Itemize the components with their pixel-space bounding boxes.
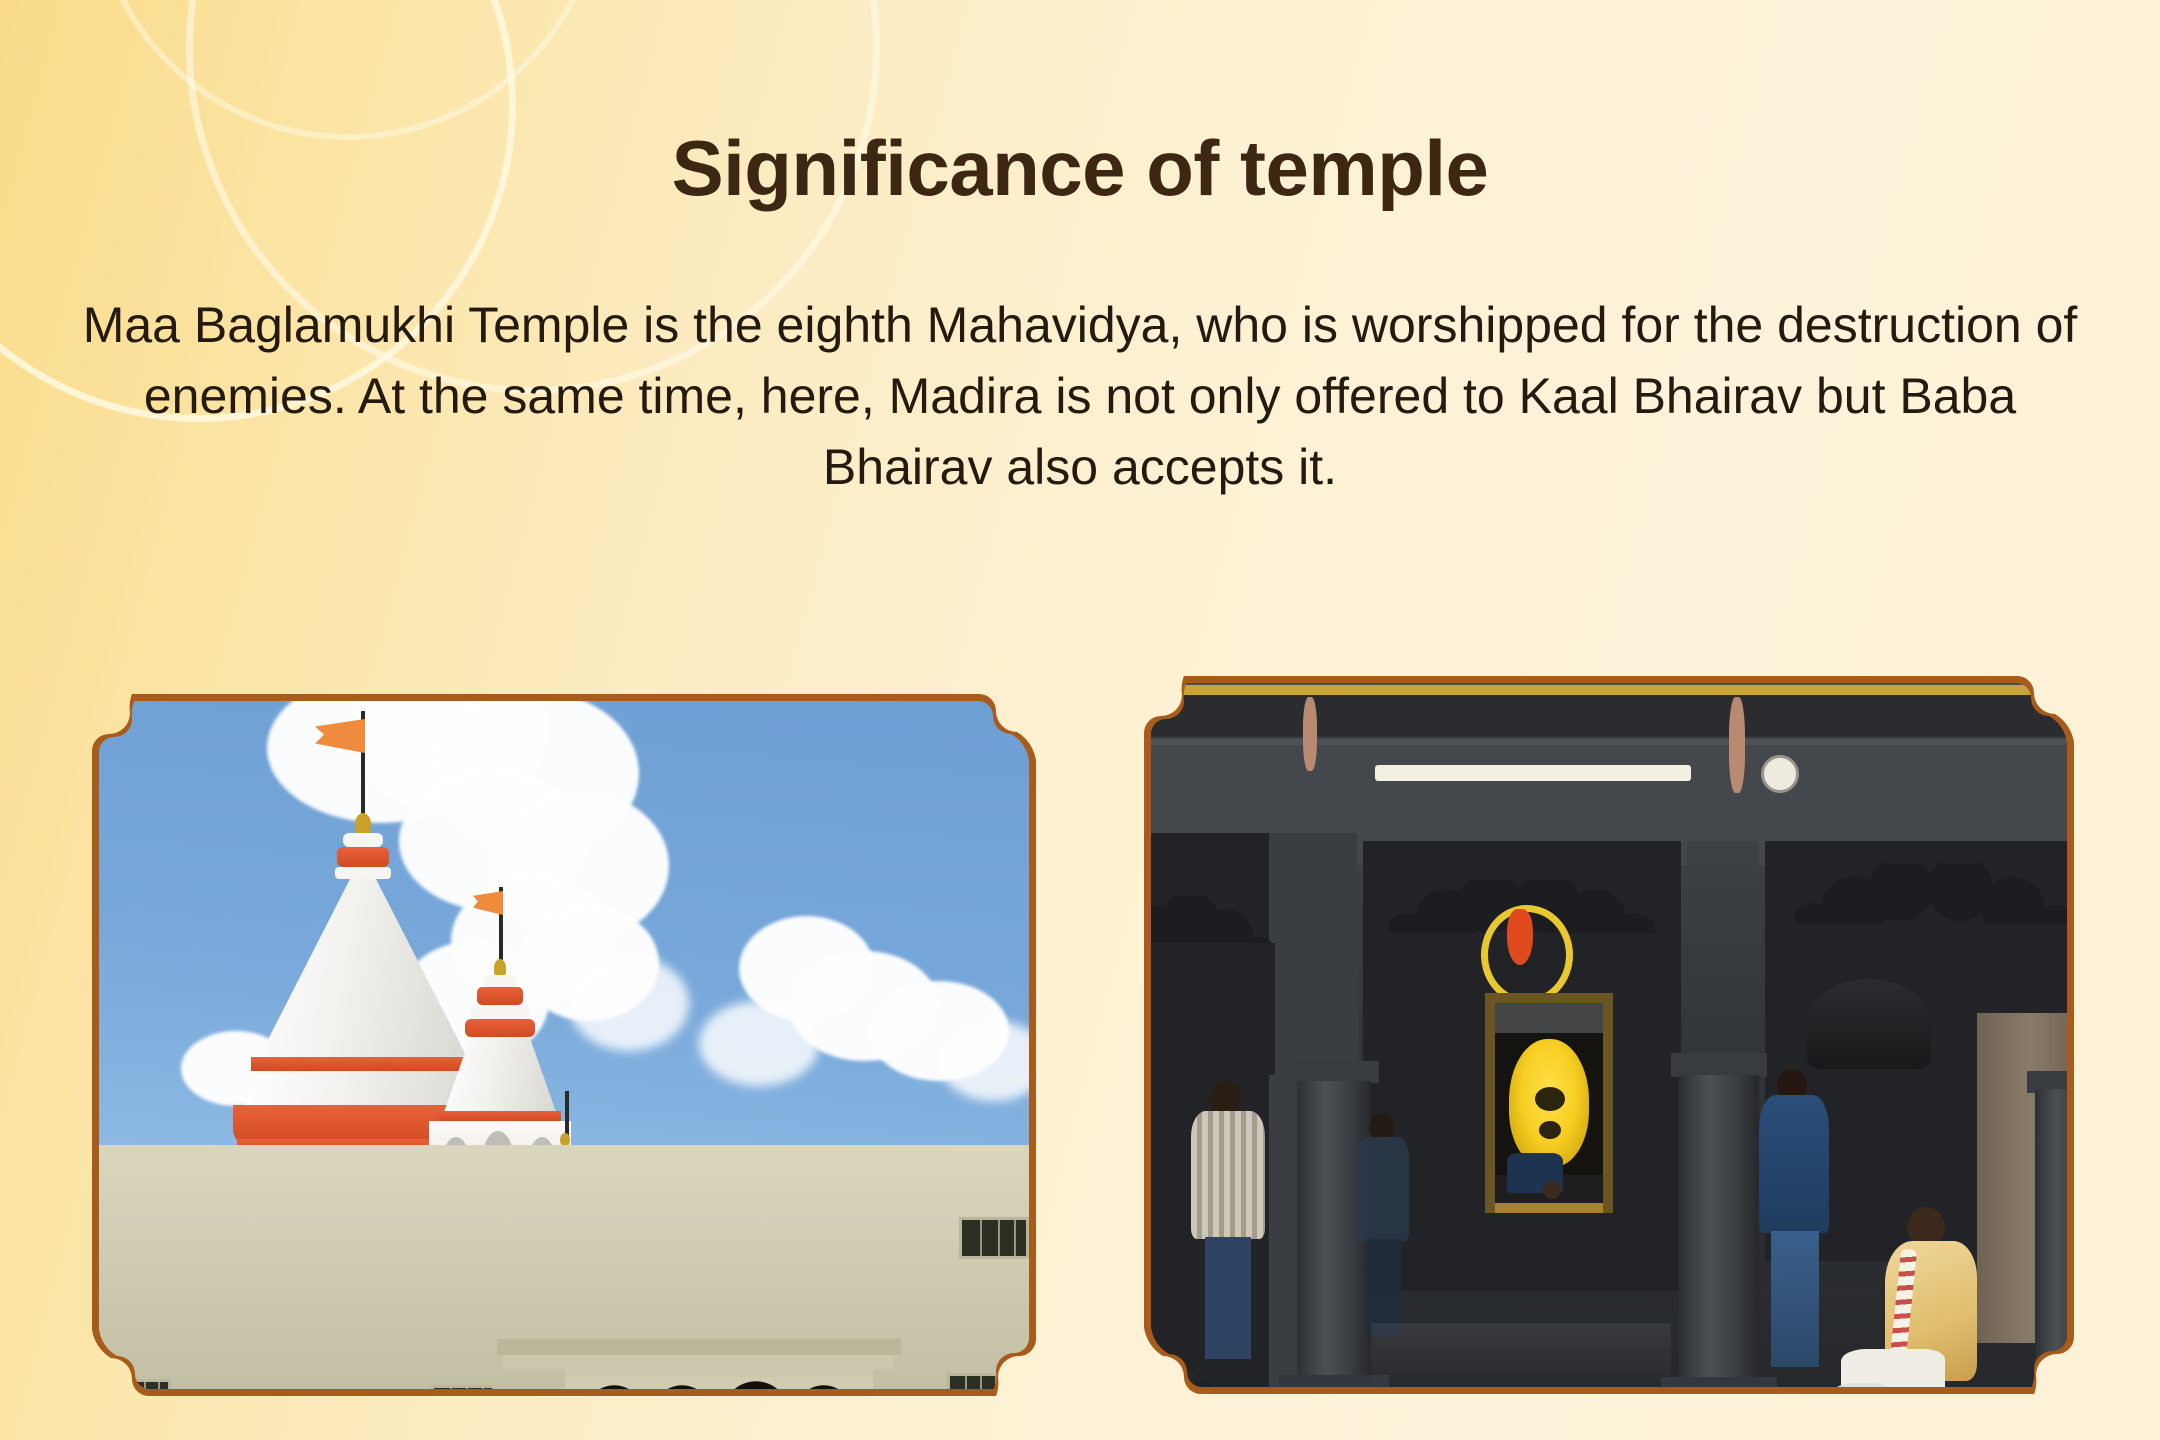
temple-drum-icon xyxy=(1807,979,1931,1069)
temple-exterior-image xyxy=(99,701,1029,1389)
temple-interior-image xyxy=(1151,683,2067,1387)
wall-clock-icon xyxy=(1761,755,1799,793)
temple-interior-photo xyxy=(1144,676,2074,1394)
tube-light-icon xyxy=(1375,765,1691,781)
temple-exterior-photo xyxy=(92,694,1036,1396)
slide-canvas: Significance of temple Maa Baglamukhi Te… xyxy=(0,0,2160,1440)
image-gallery xyxy=(0,0,2160,1440)
